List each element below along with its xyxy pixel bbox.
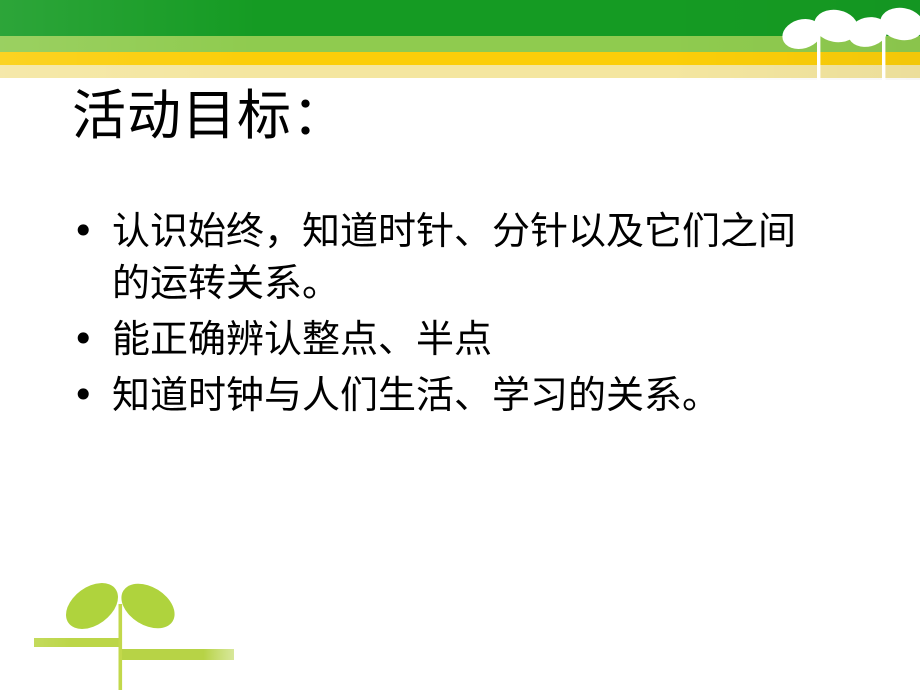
green-sprout-icon	[34, 570, 234, 690]
list-item-text: 能正确辨认整点、半点	[112, 313, 817, 365]
objectives-list: • 认识始终，知道时针、分针以及它们之间的运转关系。 • 能正确辨认整点、半点 …	[68, 205, 828, 425]
list-item-text: 知道时钟与人们生活、学习的关系。	[112, 369, 817, 421]
list-item: • 认识始终，知道时针、分针以及它们之间的运转关系。	[68, 205, 828, 309]
header-sprouts-decoration	[760, 0, 920, 82]
bullet-dot-icon: •	[68, 205, 112, 257]
list-item: • 能正确辨认整点、半点	[68, 313, 828, 365]
list-item: • 知道时钟与人们生活、学习的关系。	[68, 369, 828, 421]
bullet-dot-icon: •	[68, 313, 112, 365]
footer-sprout-decoration	[34, 570, 234, 690]
slide-title: 活动目标：	[72, 84, 347, 148]
white-sprout-icon	[760, 0, 920, 82]
presentation-slide: 活动目标： • 认识始终，知道时针、分针以及它们之间的运转关系。 • 能正确辨认…	[0, 0, 920, 690]
bullet-dot-icon: •	[68, 369, 112, 421]
list-item-text: 认识始终，知道时针、分针以及它们之间的运转关系。	[112, 205, 817, 309]
